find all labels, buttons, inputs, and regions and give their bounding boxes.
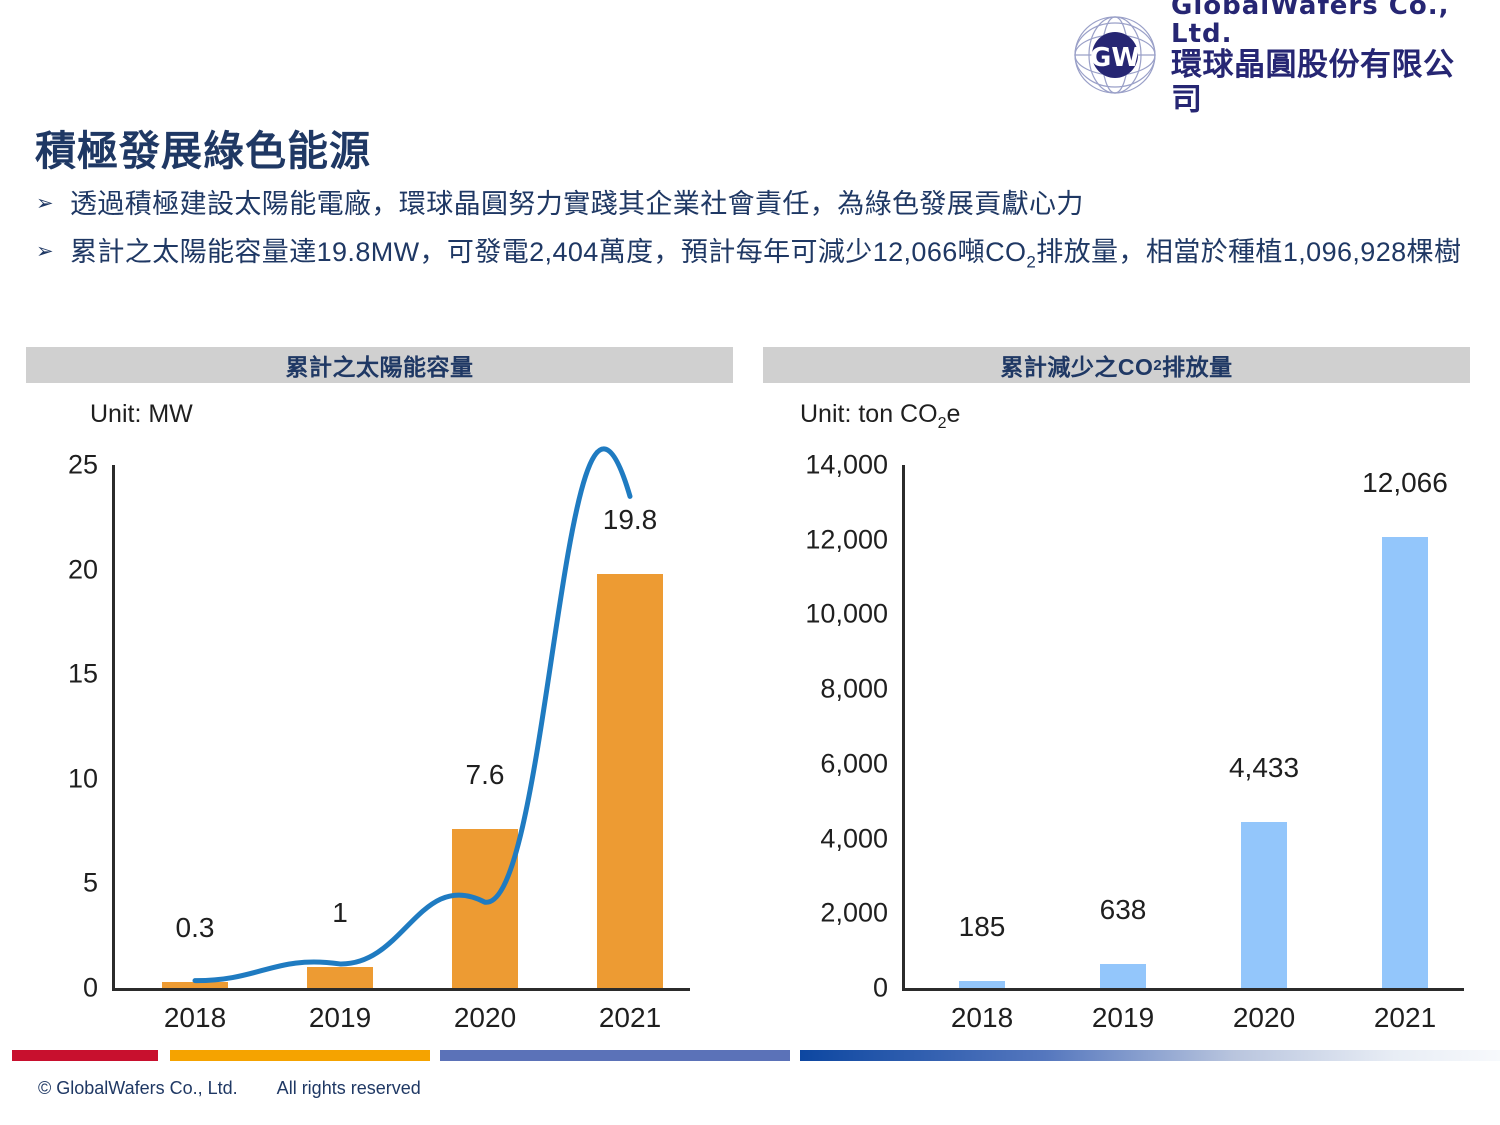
x-tick-label-2018: 2018	[164, 1002, 226, 1034]
copyright-text: © GlobalWafers Co., Ltd. All rights rese…	[38, 1078, 421, 1099]
trendline-svg	[112, 465, 690, 988]
y-tick-label: 14,000	[805, 450, 888, 481]
bar-2021	[1382, 537, 1428, 988]
y-tick-label: 6,000	[820, 748, 888, 779]
y-tick-label: 0	[873, 973, 888, 1004]
company-logo: GW GlobalWafers Co., Ltd. 環球晶圓股份有限公司	[1073, 14, 1473, 96]
panel-header-right-part-b: 排放量	[1162, 348, 1233, 382]
footer-bar-gradient	[800, 1050, 1500, 1061]
panel-header-co2-reduction: 累計減少之CO2排放量	[763, 347, 1470, 383]
y-tick-label: 25	[68, 450, 98, 481]
logo-chinese-name: 環球晶圓股份有限公司	[1171, 48, 1473, 117]
footer-bar-red	[12, 1050, 158, 1061]
globe-icon: GW	[1073, 14, 1157, 96]
y-tick-label: 0	[83, 973, 98, 1004]
y-tick-label: 8,000	[820, 674, 888, 705]
plot-area-right: 02,0004,0006,0008,00010,00012,00014,000 …	[902, 465, 1464, 988]
logo-mark-text: GW	[1090, 43, 1140, 73]
bullet-text-2: 累計之太陽能容量達19.8MW，可發電2,404萬度，預計每年可減少12,066…	[70, 233, 1461, 281]
x-tick-label-2019: 2019	[1092, 1002, 1154, 1034]
y-tick-label: 2,000	[820, 898, 888, 929]
bullet-text-2-part-a: 累計之太陽能容量達19.8MW，可發電2,404萬度，預計每年可減少12,066…	[70, 237, 1026, 267]
bar-value-label-2020: 4,433	[1229, 752, 1299, 784]
y-tick-label: 10,000	[805, 599, 888, 630]
plot-area-left: 0510152025 0.317.619.8 2018201920202021	[112, 465, 690, 988]
x-tick-label-2021: 2021	[599, 1002, 661, 1034]
x-tick-label-2020: 2020	[1233, 1002, 1295, 1034]
chart-solar-capacity: 0510152025 0.317.619.8 2018201920202021	[0, 450, 740, 1035]
footer-bar-orange	[170, 1050, 430, 1061]
footer-bar-blue	[440, 1050, 790, 1061]
y-tick-label: 12,000	[805, 524, 888, 555]
unit-right-part-a: Unit: ton CO	[800, 400, 938, 428]
bullet-arrow-icon: ➢	[36, 233, 70, 271]
x-tick-label-2020: 2020	[454, 1002, 516, 1034]
footer-color-bars	[0, 1050, 1500, 1062]
bar-2019	[1100, 964, 1146, 988]
bar-value-label-2018: 185	[959, 911, 1006, 943]
x-tick-label-2018: 2018	[951, 1002, 1013, 1034]
x-axis-left	[112, 988, 690, 991]
x-axis-right	[902, 988, 1464, 991]
bullet-text-1: 透過積極建設太陽能電廠，環球晶圓努力實踐其企業社會責任，為綠色發展貢獻心力	[70, 185, 1084, 223]
panel-header-right-subscript: 2	[1153, 357, 1162, 374]
bar-value-label-2019: 638	[1100, 894, 1147, 926]
logo-english-name: GlobalWafers Co., Ltd.	[1171, 0, 1473, 48]
panel-header-right-part-a: 累計減少之CO	[1000, 348, 1153, 382]
panel-header-solar-capacity: 累計之太陽能容量	[26, 347, 733, 383]
bullet-item-2: ➢ 累計之太陽能容量達19.8MW，可發電2,404萬度，預計每年可減少12,0…	[36, 233, 1466, 281]
unit-label-left: Unit: MW	[90, 400, 193, 429]
bar-2020	[1241, 822, 1287, 988]
y-tick-label: 10	[68, 763, 98, 794]
unit-label-right: Unit: ton CO2e	[800, 400, 960, 433]
bullet-text-2-part-b: 排放量，相當於種植1,096,928棵樹	[1036, 237, 1461, 267]
bullet-text-2-subscript: 2	[1026, 252, 1036, 271]
x-tick-label-2019: 2019	[309, 1002, 371, 1034]
y-tick-label: 20	[68, 554, 98, 585]
y-tick-label: 4,000	[820, 823, 888, 854]
bar-value-label-2021: 12,066	[1362, 467, 1448, 499]
page-title: 積極發展綠色能源	[35, 117, 371, 177]
chart-co2-reduction: 02,0004,0006,0008,00010,00012,00014,000 …	[740, 450, 1500, 1035]
bullet-list: ➢ 透過積極建設太陽能電廠，環球晶圓努力實踐其企業社會責任，為綠色發展貢獻心力 …	[36, 185, 1466, 291]
bar-2018	[959, 981, 1005, 988]
bullet-arrow-icon: ➢	[36, 185, 70, 223]
y-tick-label: 15	[68, 659, 98, 690]
unit-right-part-b: e	[946, 400, 960, 428]
y-tick-label: 5	[83, 868, 98, 899]
y-axis-right	[902, 465, 905, 988]
bullet-item-1: ➢ 透過積極建設太陽能電廠，環球晶圓努力實踐其企業社會責任，為綠色發展貢獻心力	[36, 185, 1466, 223]
trendline-path	[195, 449, 630, 981]
x-tick-label-2021: 2021	[1374, 1002, 1436, 1034]
